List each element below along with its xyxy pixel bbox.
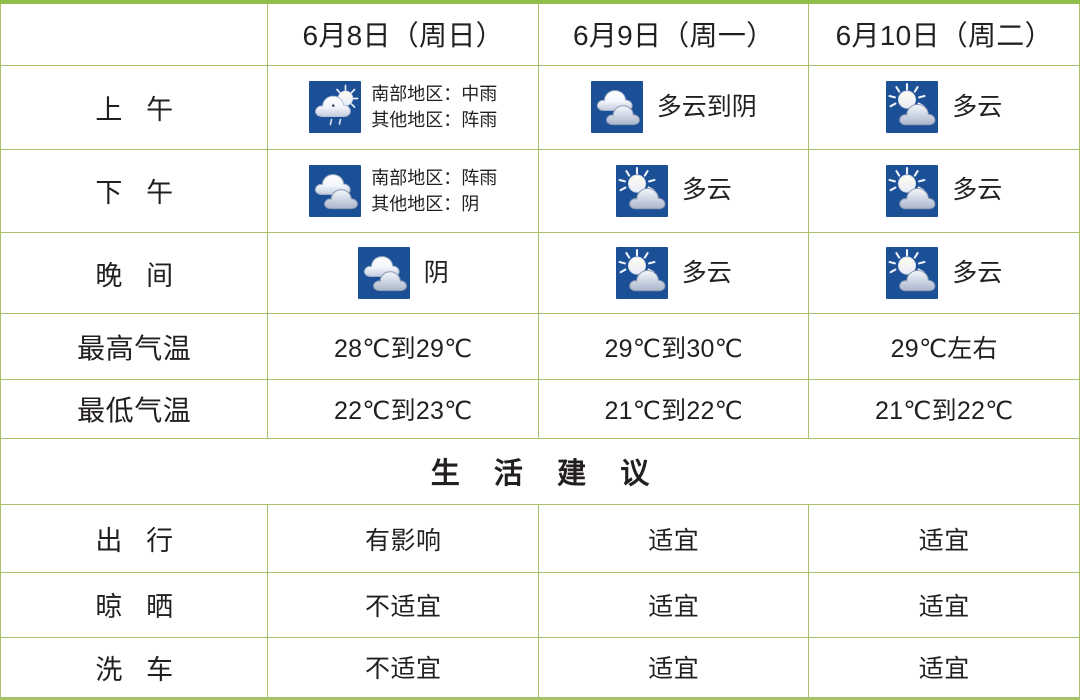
row-label-afternoon: 下 午: [1, 149, 268, 233]
weather-description: 多云: [952, 91, 1002, 124]
weather-cell-evening-day-1: 阴: [268, 233, 539, 314]
weather-cell-evening-day-3: 多云: [809, 233, 1080, 314]
advice-section-title: 生 活 建 议: [1, 438, 1080, 504]
column-header-day-1: 6月8日（周日）: [268, 2, 539, 65]
drying-day-2: 适宜: [538, 573, 809, 637]
weather-description: 南部地区：中雨 其他地区：阵雨: [371, 81, 497, 133]
weather-cell-morning-day-2: 多云到阴: [538, 65, 809, 149]
sun-behind-cloud-icon: [886, 165, 938, 217]
weather-description: 多云到阴: [657, 91, 757, 124]
weather-description: 多云: [952, 174, 1002, 207]
sun-behind-cloud-icon: [886, 247, 938, 299]
weather-cell-morning-day-3: 多云: [809, 65, 1080, 149]
sun-behind-cloud-icon: [616, 247, 668, 299]
low-temp-day-2: 21℃到22℃: [538, 380, 809, 438]
travel-day-2: 适宜: [538, 504, 809, 572]
weather-description: 南部地区：阵雨 其他地区：阴: [371, 165, 497, 217]
row-label-car-wash: 洗 车: [1, 637, 268, 698]
high-temp-day-2: 29℃到30℃: [538, 313, 809, 379]
corner-cell: [1, 2, 268, 65]
row-afternoon: 下 午 南部地区：阵雨 其他地区：阴 多云: [1, 149, 1080, 233]
weather-cell-morning-day-1: 南部地区：中雨 其他地区：阵雨: [268, 65, 539, 149]
sun-behind-cloud-icon: [886, 81, 938, 133]
row-label-evening: 晚 间: [1, 233, 268, 314]
row-label-travel: 出 行: [1, 504, 268, 572]
weather-description: 多云: [682, 257, 732, 290]
row-label-drying: 晾 晒: [1, 573, 268, 637]
drying-day-3: 适宜: [809, 573, 1080, 637]
row-drying: 晾 晒 不适宜 适宜 适宜: [1, 573, 1080, 637]
high-temp-day-1: 28℃到29℃: [268, 313, 539, 379]
travel-day-3: 适宜: [809, 504, 1080, 572]
row-low-temp: 最低气温 22℃到23℃ 21℃到22℃ 21℃到22℃: [1, 380, 1080, 438]
low-temp-day-1: 22℃到23℃: [268, 380, 539, 438]
row-evening: 晚 间 阴 多云: [1, 233, 1080, 314]
high-temp-day-3: 29℃左右: [809, 313, 1080, 379]
row-label-low-temp: 最低气温: [1, 380, 268, 438]
sun-cloud-rain-icon: [309, 81, 361, 133]
drying-day-1: 不适宜: [268, 573, 539, 637]
car-wash-day-3: 适宜: [809, 637, 1080, 698]
car-wash-day-2: 适宜: [538, 637, 809, 698]
travel-day-1: 有影响: [268, 504, 539, 572]
weather-cell-afternoon-day-1: 南部地区：阵雨 其他地区：阴: [268, 149, 539, 233]
column-header-day-2: 6月9日（周一）: [538, 2, 809, 65]
weather-cell-afternoon-day-3: 多云: [809, 149, 1080, 233]
double-cloud-icon: [591, 81, 643, 133]
sun-behind-cloud-icon: [616, 165, 668, 217]
weather-cell-evening-day-2: 多云: [538, 233, 809, 314]
row-morning: 上 午 南部地区：中雨 其他地区：阵雨 多云到阴: [1, 65, 1080, 149]
row-label-morning: 上 午: [1, 65, 268, 149]
row-advice-title: 生 活 建 议: [1, 438, 1080, 504]
double-cloud-icon: [309, 165, 361, 217]
row-car-wash: 洗 车 不适宜 适宜 适宜: [1, 637, 1080, 698]
row-high-temp: 最高气温 28℃到29℃ 29℃到30℃ 29℃左右: [1, 313, 1080, 379]
car-wash-day-1: 不适宜: [268, 637, 539, 698]
weather-description: 多云: [952, 257, 1002, 290]
column-header-day-3: 6月10日（周二）: [809, 2, 1080, 65]
weather-cell-afternoon-day-2: 多云: [538, 149, 809, 233]
table-header-row: 6月8日（周日） 6月9日（周一） 6月10日（周二）: [1, 2, 1080, 65]
row-travel: 出 行 有影响 适宜 适宜: [1, 504, 1080, 572]
double-cloud-icon: [358, 247, 410, 299]
weather-description: 多云: [682, 174, 732, 207]
low-temp-day-3: 21℃到22℃: [809, 380, 1080, 438]
weather-description: 阴: [424, 257, 449, 290]
row-label-high-temp: 最高气温: [1, 313, 268, 379]
weather-forecast-table: 6月8日（周日） 6月9日（周一） 6月10日（周二） 上 午 南部地区：中雨 …: [0, 0, 1080, 700]
